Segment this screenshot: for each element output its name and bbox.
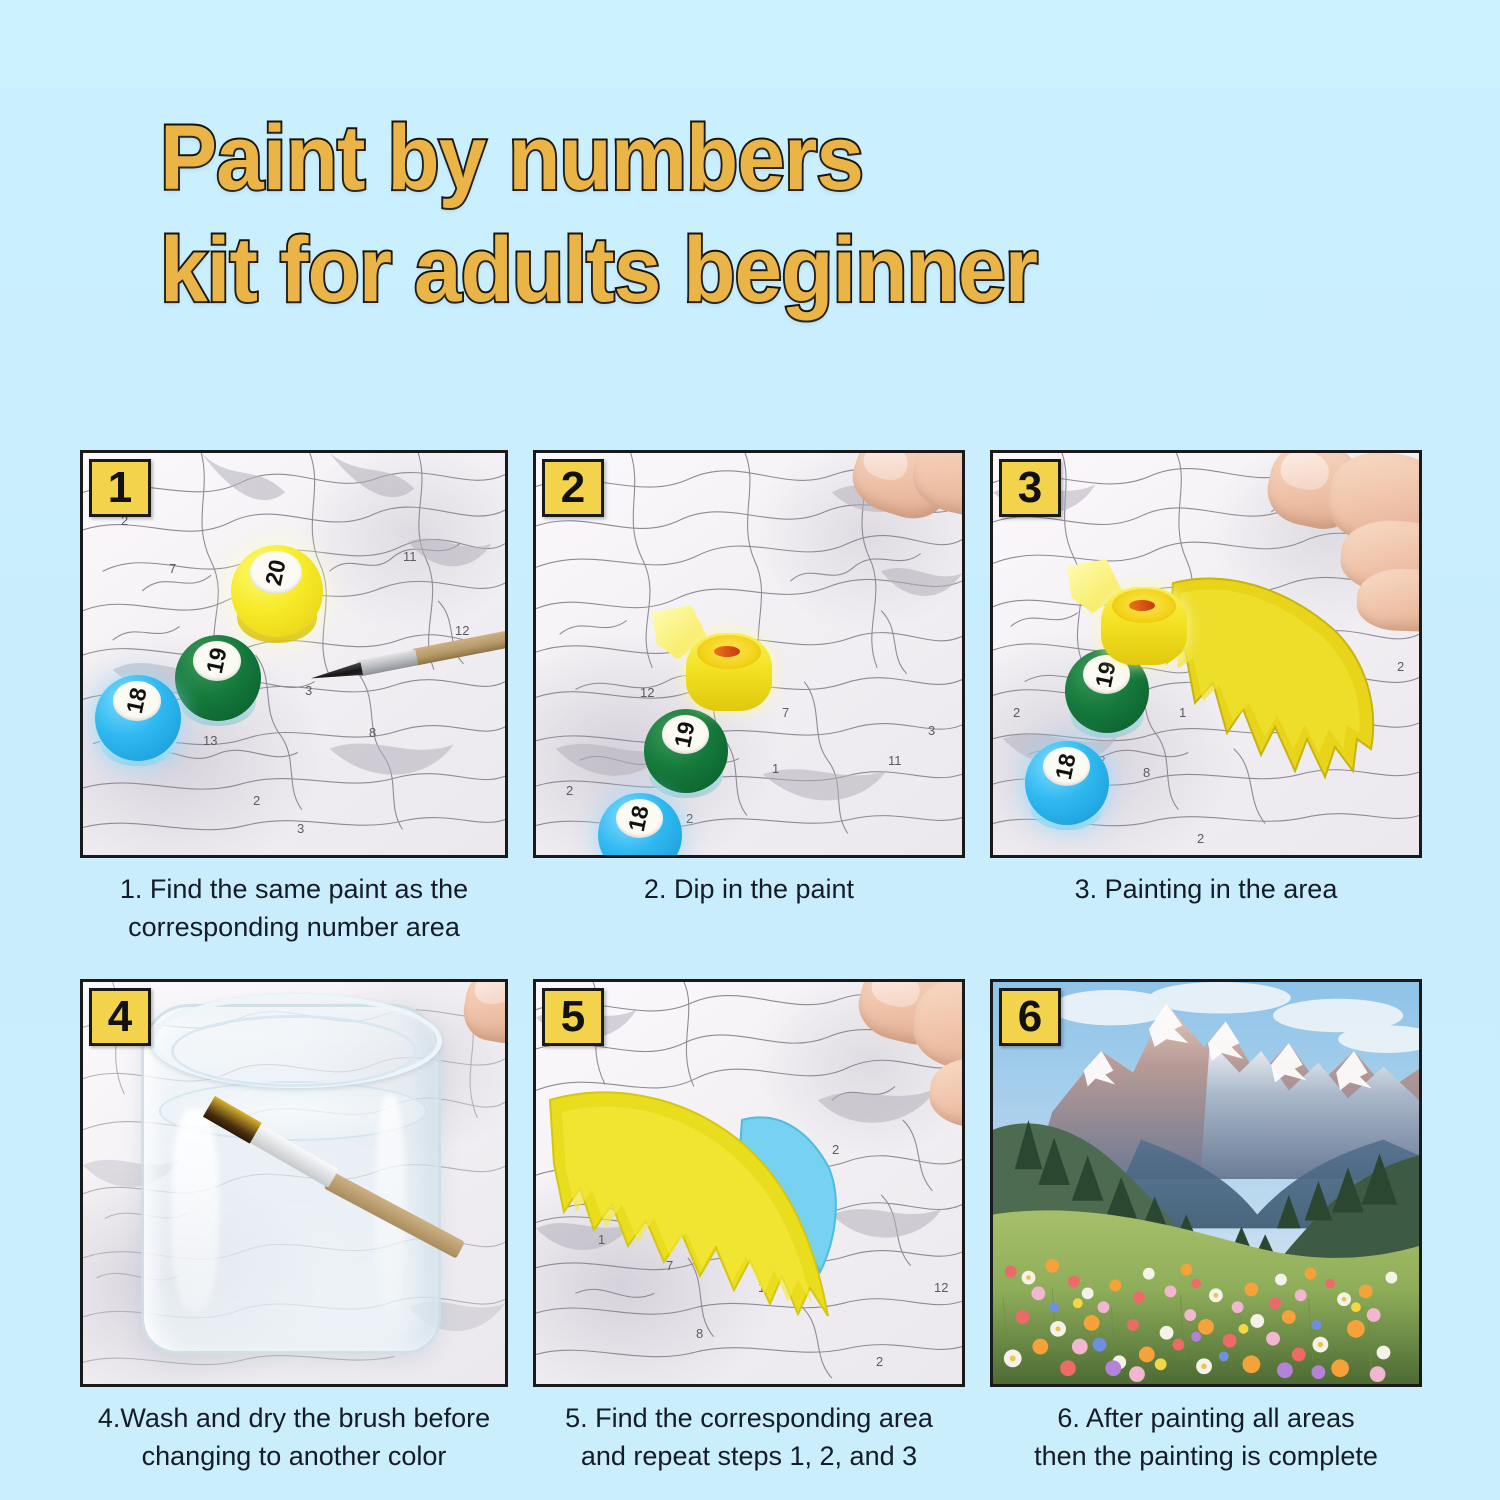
pot-label: 19 (662, 715, 709, 754)
canvas-number: 8 (369, 725, 376, 740)
step-photo-2: 2 7 1 12 3 11 2 1 (533, 450, 965, 858)
title-line-2: kit for adults beginner (160, 214, 1276, 326)
canvas-number: 11 (403, 549, 417, 564)
paint-pot-19: 19 (175, 635, 261, 721)
paint-dab (1129, 600, 1155, 611)
canvas-number: 2 (876, 1354, 883, 1369)
step-caption-5: 5. Find the corresponding area and repea… (533, 1399, 965, 1475)
canvas-number: 2 (566, 783, 573, 798)
caption-line: 5. Find the corresponding area (537, 1399, 961, 1437)
pot-label: 20 (250, 551, 302, 593)
caption-line: and repeat steps 1, 2, and 3 (537, 1437, 961, 1475)
step-photo-1: 2 7 1 3 11 12 13 8 2 3 (80, 450, 508, 858)
step-photo-4: 4 (80, 979, 508, 1387)
caption-line: 1. Find the same paint as the (84, 870, 504, 908)
hand (465, 979, 508, 1058)
step-card-5: 2 1 7 11 12 8 2 (533, 979, 965, 1475)
pot-label: 19 (193, 641, 241, 681)
step-card-2: 2 7 1 12 3 11 2 1 (533, 450, 965, 946)
pot-label: 18 (113, 681, 161, 721)
step-photo-6: 6 (990, 979, 1422, 1387)
brush-handle (324, 1171, 465, 1258)
canvas-number: 12 (640, 685, 654, 700)
step-photo-5: 2 1 7 11 12 8 2 (533, 979, 965, 1387)
caption-line: 4.Wash and dry the brush before (84, 1399, 504, 1437)
page-title: Paint by numbers kit for adults beginner (160, 102, 1360, 326)
step-card-4: 4 4.Wash and dry the brush before changi… (80, 979, 508, 1475)
caption-line: corresponding number area (84, 908, 504, 946)
step-caption-1: 1. Find the same paint as the correspond… (80, 870, 508, 946)
canvas-number: 2 (1197, 831, 1204, 846)
canvas-number: 2 (253, 793, 260, 808)
canvas-number: 12 (455, 623, 469, 638)
title-line-1: Paint by numbers (160, 102, 1276, 214)
pot-label: 18 (616, 799, 663, 838)
step-caption-2: 2. Dip in the paint (533, 870, 965, 908)
caption-line: changing to another color (84, 1437, 504, 1475)
canvas-number: 8 (696, 1326, 703, 1341)
poster-root: Paint by numbers kit for adults beginner (0, 0, 1500, 1500)
canvas-number: 7 (782, 705, 789, 720)
paint-pot-18: 18 (95, 675, 181, 761)
paint-pot-19: 19 (644, 709, 728, 793)
step-card-3: 2 7 1 12 11 2 8 2 (990, 450, 1422, 946)
canvas-number: 12 (934, 1280, 948, 1295)
step-badge-1: 1 (89, 459, 151, 517)
caption-line: 2. Dip in the paint (537, 870, 961, 908)
step-card-1: 2 7 1 3 11 12 13 8 2 3 (80, 450, 508, 946)
step-caption-3: 3. Painting in the area (990, 870, 1422, 908)
step-badge-4: 4 (89, 988, 151, 1046)
hand (1245, 450, 1422, 633)
step-badge-2: 2 (542, 459, 604, 517)
steps-grid: 2 7 1 3 11 12 13 8 2 3 (80, 450, 1425, 1475)
hand (836, 450, 965, 557)
painted-yellow-area (542, 1078, 838, 1326)
paint-pot-open-yellow (686, 619, 772, 711)
paint-pot-18: 18 (1025, 741, 1109, 825)
canvas-number: 11 (888, 753, 902, 768)
canvas-number: 1 (772, 761, 779, 776)
pot-label: 18 (1043, 747, 1090, 786)
step-caption-6: 6. After painting all areas then the pai… (990, 1399, 1422, 1475)
canvas-number: 13 (203, 733, 217, 748)
canvas-number: 7 (169, 561, 176, 576)
step-photo-3: 2 7 1 12 11 2 8 2 (990, 450, 1422, 858)
step-badge-3: 3 (999, 459, 1061, 517)
step-caption-4: 4.Wash and dry the brush before changing… (80, 1399, 508, 1475)
step-badge-5: 5 (542, 988, 604, 1046)
canvas-number: 2 (1013, 705, 1020, 720)
caption-line: 3. Painting in the area (994, 870, 1418, 908)
hand (842, 979, 965, 1162)
caption-line: 6. After painting all areas (994, 1399, 1418, 1437)
canvas-number: 3 (297, 821, 304, 836)
canvas-number: 8 (1143, 765, 1150, 780)
paint-dab (714, 646, 740, 657)
step-card-6: 6 6. After painting all areas then the p… (990, 979, 1422, 1475)
step-badge-6: 6 (999, 988, 1061, 1046)
paint-pot-20: 20 (231, 545, 323, 637)
brush-bristles (203, 1096, 262, 1144)
canvas-number: 2 (686, 811, 693, 826)
caption-line: then the painting is complete (994, 1437, 1418, 1475)
brush-ferrule (247, 1123, 339, 1188)
paint-pot-open-yellow (1101, 573, 1187, 665)
canvas-number: 3 (928, 723, 935, 738)
